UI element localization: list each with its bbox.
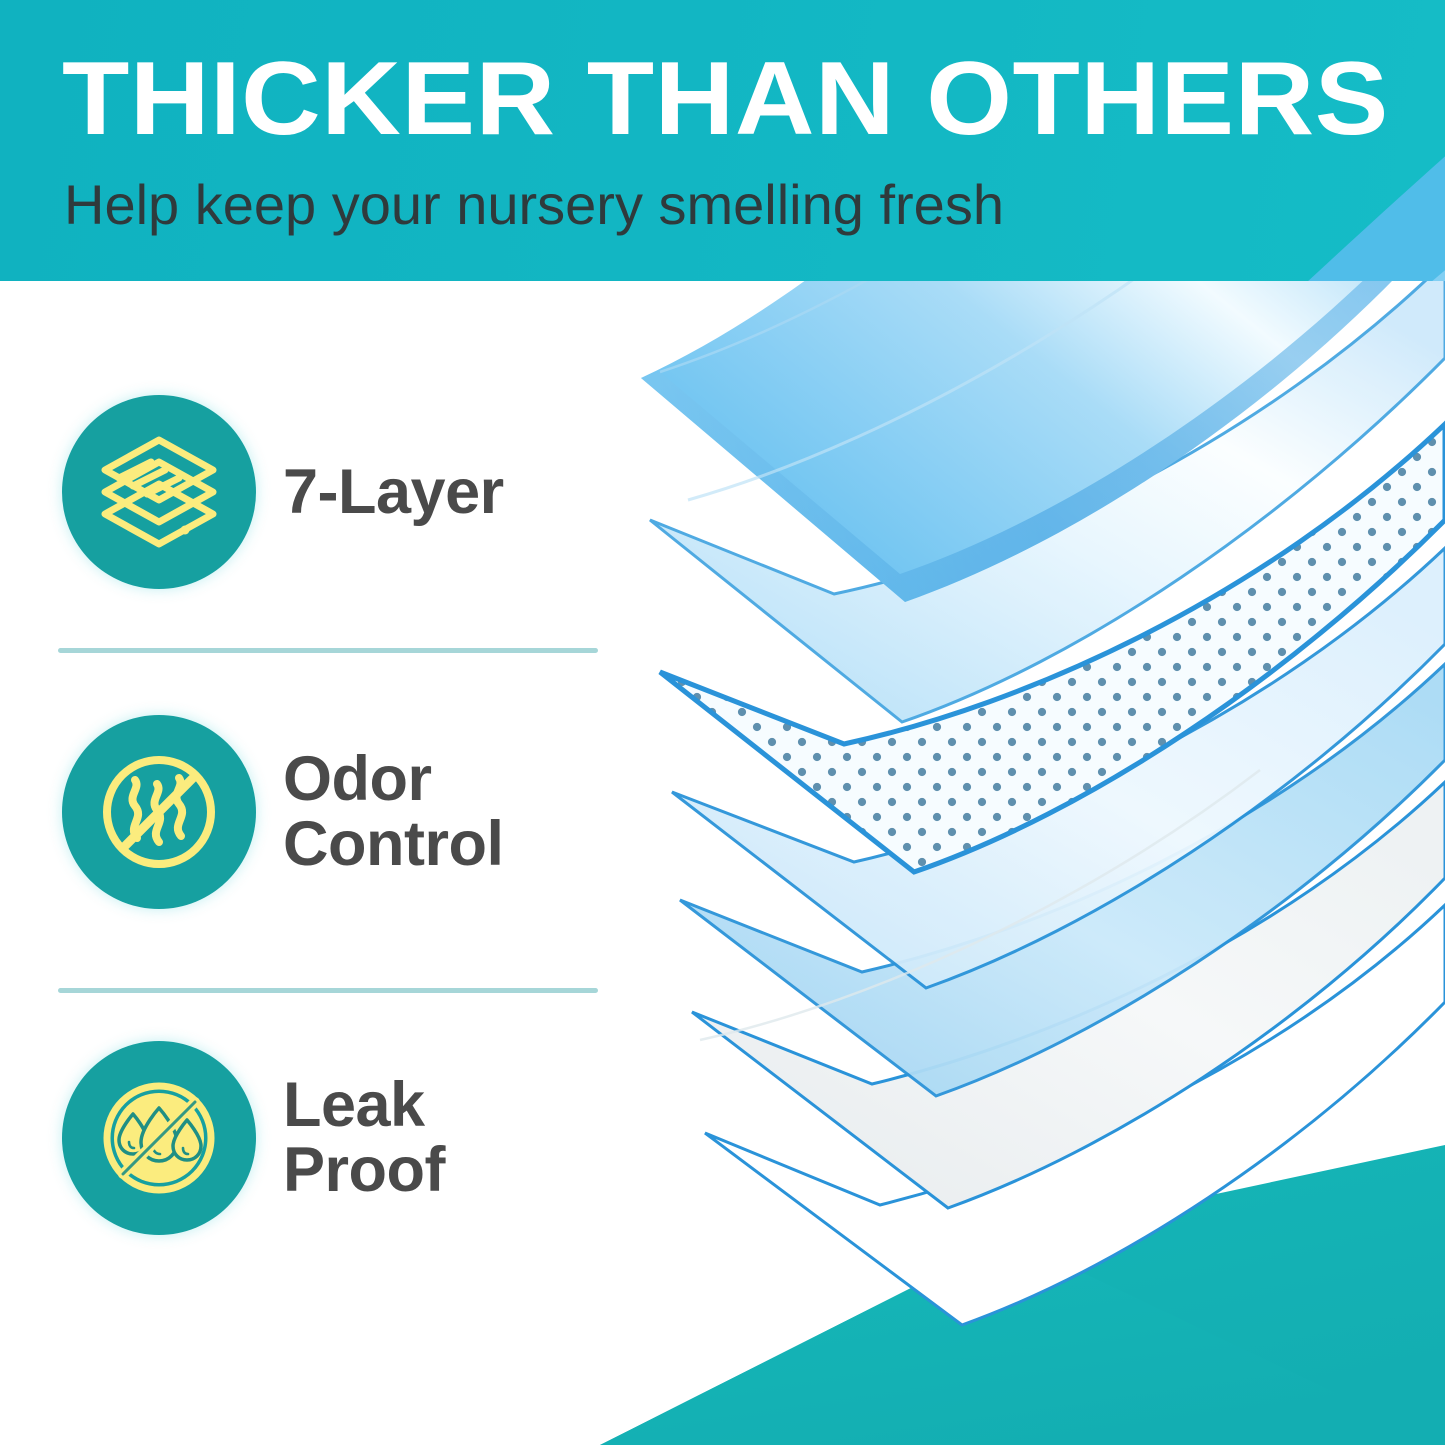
header-banner: THICKER THAN OTHERS Help keep your nurse… <box>0 0 1445 281</box>
base-chevron <box>600 1145 1445 1445</box>
feature-badge-leak-proof <box>62 1041 256 1235</box>
feature-item-odor-control[interactable]: Odor Control <box>0 715 640 909</box>
dotted-absorbent-sheet <box>660 424 1445 872</box>
no-odor-icon <box>89 742 229 882</box>
page-subtitle: Help keep your nursery smelling fresh <box>64 176 1004 235</box>
feature-label-7-layer: 7-Layer <box>283 460 504 525</box>
no-leak-droplets-icon <box>89 1068 229 1208</box>
page-title: THICKER THAN OTHERS <box>62 46 1445 152</box>
feature-label-leak-proof: Leak Proof <box>283 1073 445 1203</box>
feature-divider-2 <box>58 988 598 993</box>
feature-divider-1 <box>58 648 598 653</box>
gray-backing-sheet <box>692 782 1445 1208</box>
white-base-sheet <box>705 905 1445 1325</box>
fourth-blue-sheet <box>672 548 1445 988</box>
fifth-blue-sheet <box>680 664 1445 1096</box>
layers-stack-icon <box>89 422 229 562</box>
second-blue-sheet <box>650 262 1445 722</box>
feature-badge-7-layer <box>62 395 256 589</box>
feature-badge-odor-control <box>62 715 256 909</box>
feature-item-7-layer[interactable]: 7-Layer <box>0 395 640 589</box>
feature-item-leak-proof[interactable]: Leak Proof <box>0 1041 640 1235</box>
product-infographic: THICKER THAN OTHERS Help keep your nurse… <box>0 0 1445 1445</box>
feature-label-odor-control: Odor Control <box>283 747 503 877</box>
feature-list: 7-Layer Odor Control <box>0 281 640 1445</box>
